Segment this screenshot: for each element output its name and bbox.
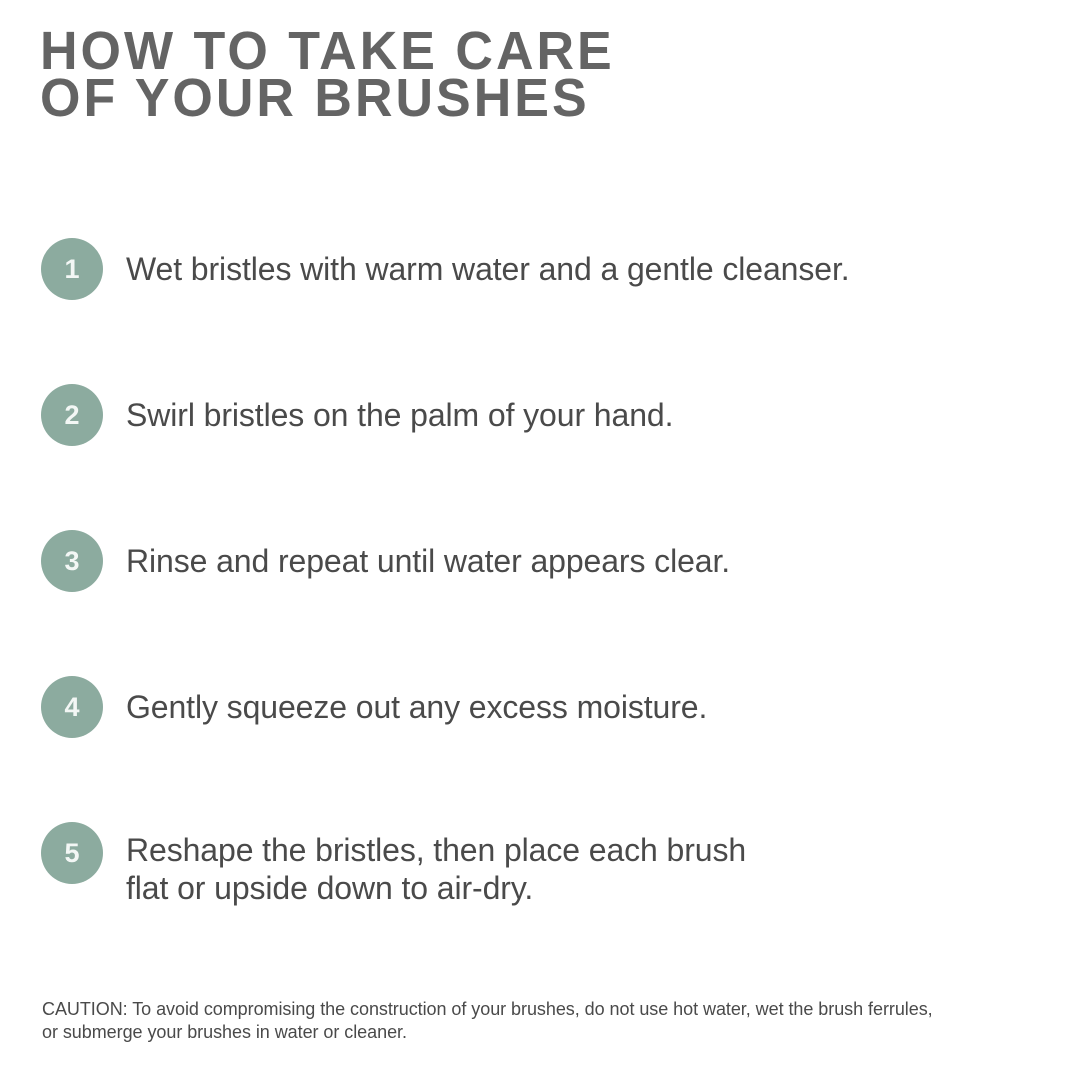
step-text-4: Gently squeeze out any excess moisture. <box>126 676 1026 726</box>
step-number-2: 2 <box>64 402 79 429</box>
step-badge-4: 4 <box>41 676 103 738</box>
step-text-3: Rinse and repeat until water appears cle… <box>126 530 1026 580</box>
caution-note: CAUTION: To avoid compromising the const… <box>42 998 947 1044</box>
step-number-5: 5 <box>64 840 79 867</box>
list-item: 4 Gently squeeze out any excess moisture… <box>41 676 1041 738</box>
step-text-2: Swirl bristles on the palm of your hand. <box>126 384 1026 434</box>
list-item: 3 Rinse and repeat until water appears c… <box>41 530 1041 592</box>
page-title-line-2: OF YOUR BRUSHES <box>40 75 1040 123</box>
list-item: 5 Reshape the bristles, then place each … <box>41 822 1041 884</box>
step-badge-1: 1 <box>41 238 103 300</box>
brush-care-infographic: HOW TO TAKE CARE OF YOUR BRUSHES 1 Wet b… <box>0 0 1080 1080</box>
step-badge-3: 3 <box>41 530 103 592</box>
step-number-3: 3 <box>64 548 79 575</box>
list-item: 1 Wet bristles with warm water and a gen… <box>41 238 1041 300</box>
steps-list: 1 Wet bristles with warm water and a gen… <box>41 238 1041 884</box>
step-number-4: 4 <box>64 694 79 721</box>
step-text-5: Reshape the bristles, then place each br… <box>126 822 1026 907</box>
page-title: HOW TO TAKE CARE OF YOUR BRUSHES <box>40 28 1040 122</box>
step-badge-2: 2 <box>41 384 103 446</box>
step-text-1: Wet bristles with warm water and a gentl… <box>126 238 1026 288</box>
list-item: 2 Swirl bristles on the palm of your han… <box>41 384 1041 446</box>
step-number-1: 1 <box>64 256 79 283</box>
step-badge-5: 5 <box>41 822 103 884</box>
